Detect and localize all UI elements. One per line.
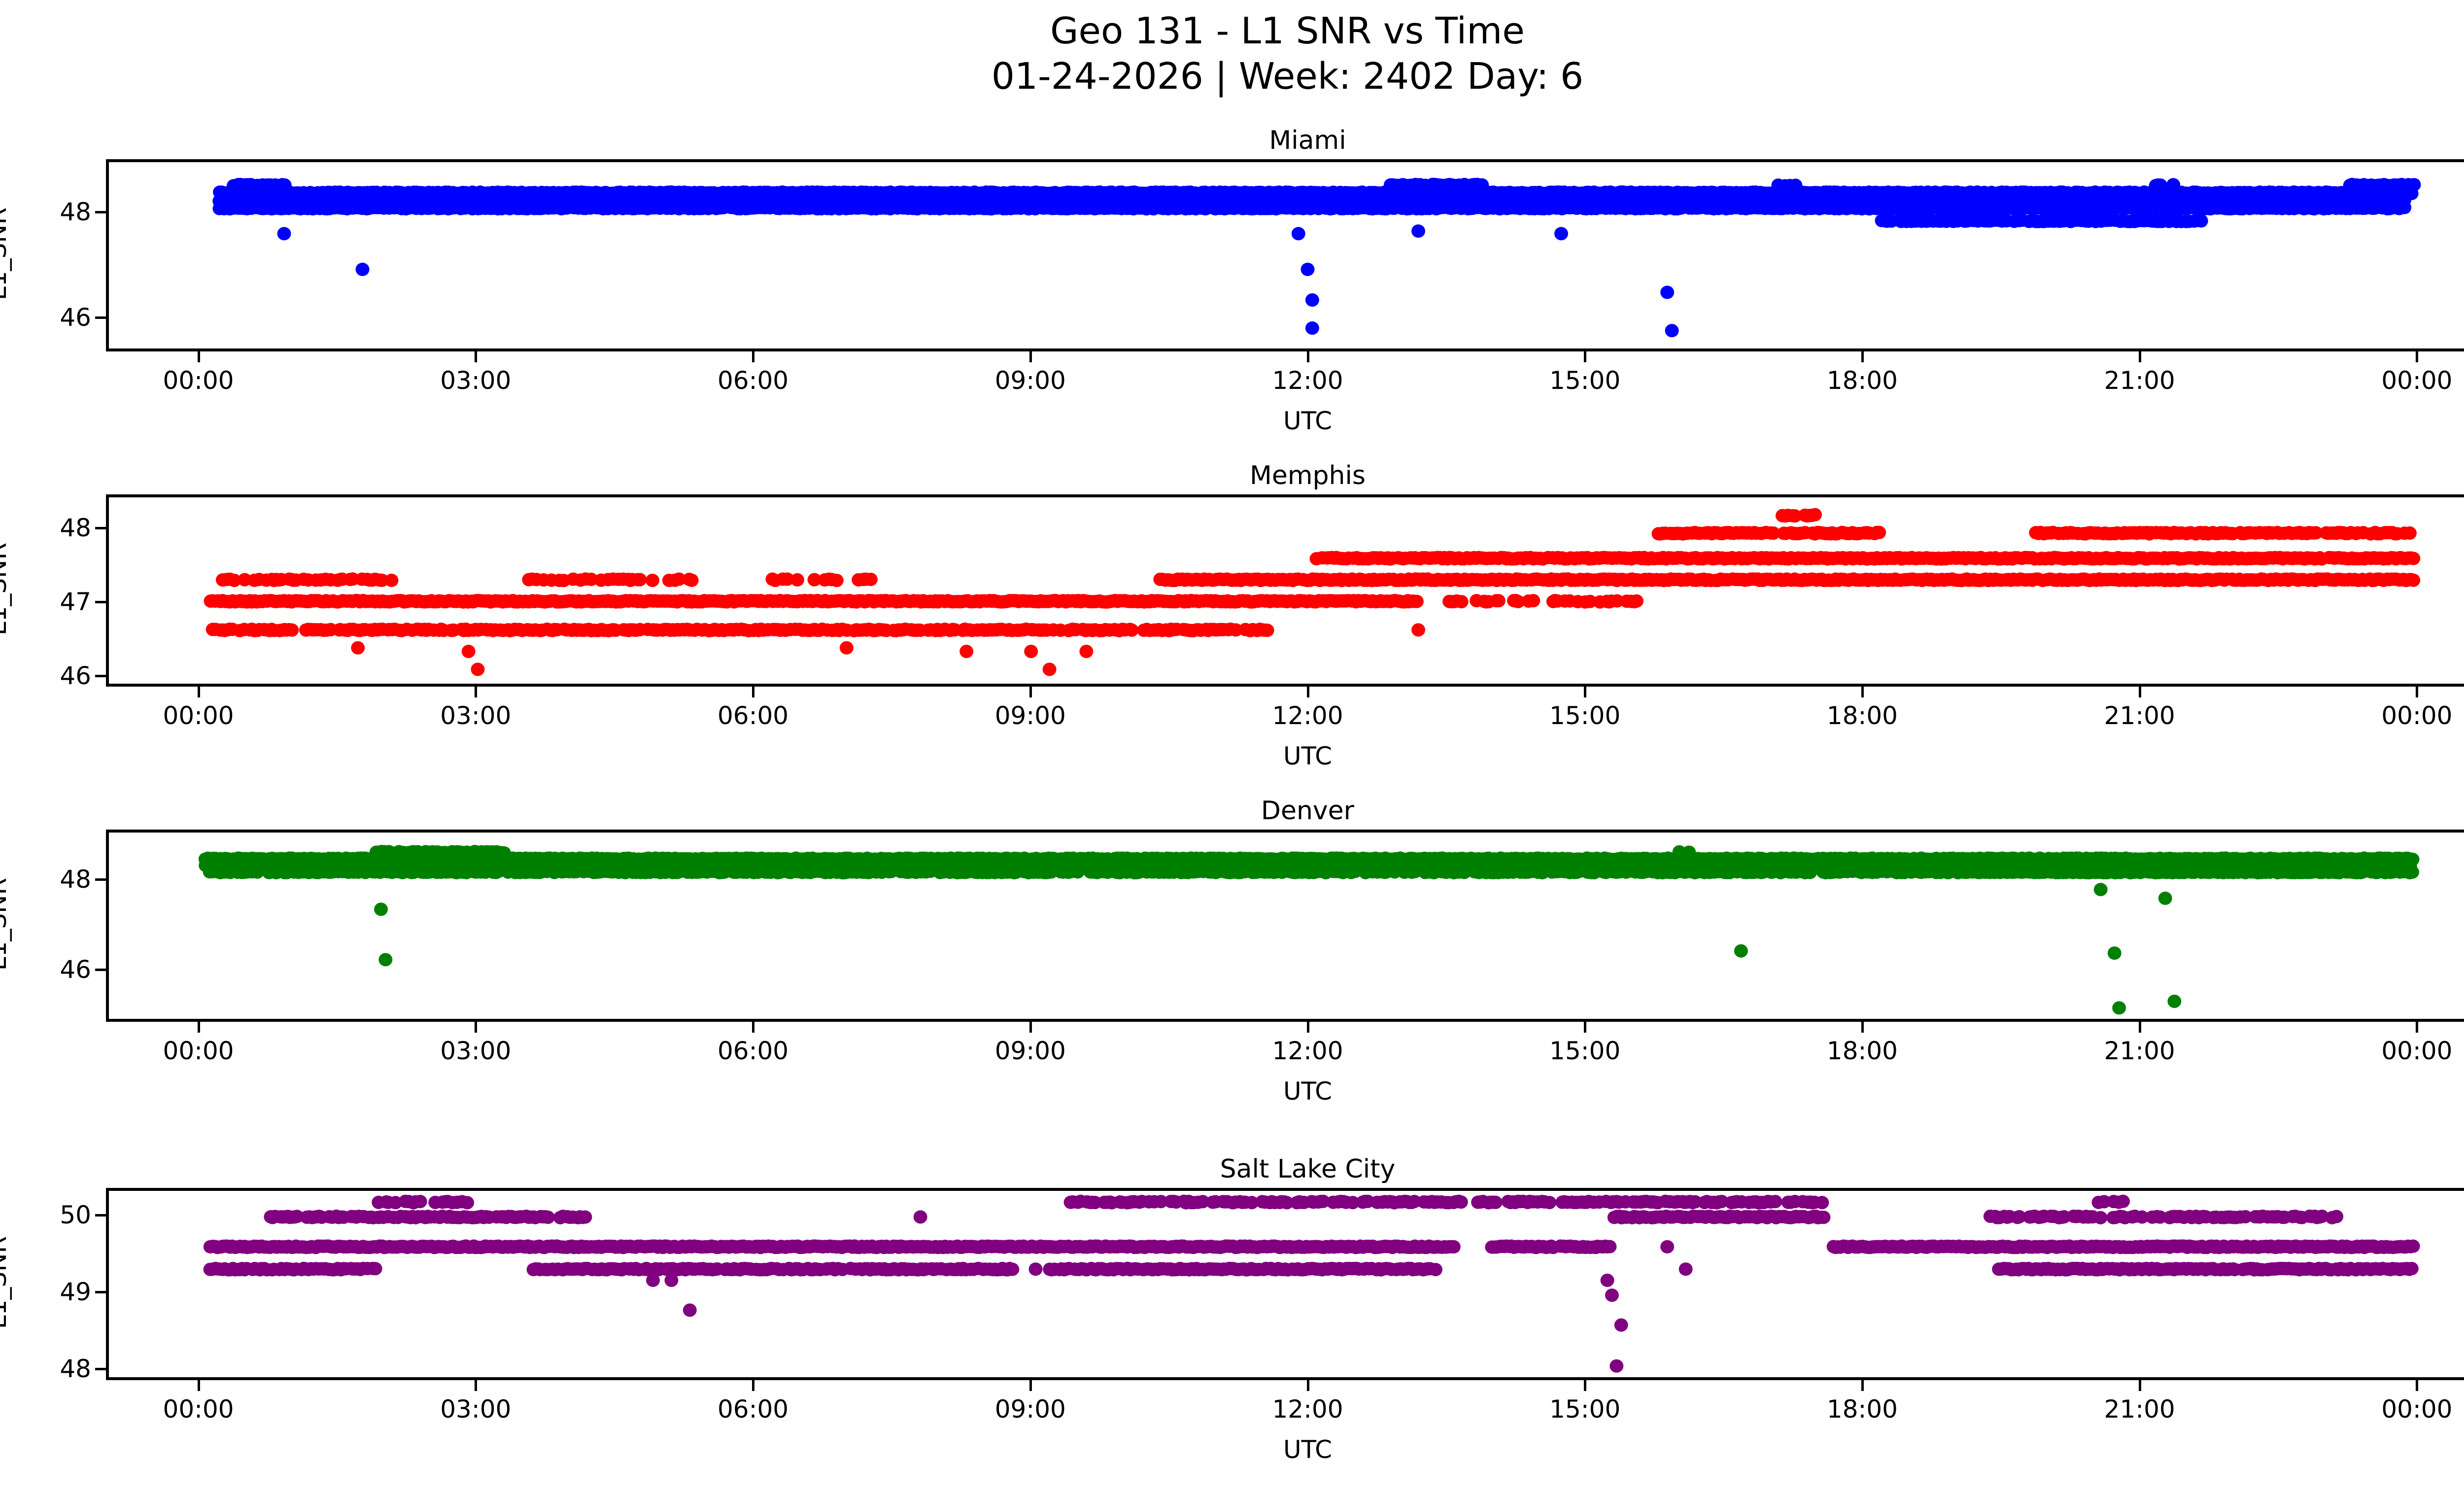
x-tick-label: 06:00	[718, 1395, 788, 1424]
x-tick-label: 00:00	[2381, 1395, 2452, 1424]
scatter-points-salt-lake-city	[109, 1191, 2464, 1377]
x-tick-label: 21:00	[2104, 1395, 2175, 1424]
x-tick-mark	[1861, 1380, 1864, 1391]
x-tick-mark	[1029, 1380, 1032, 1391]
x-tick-mark	[198, 1380, 200, 1391]
x-tick-label: 03:00	[440, 1395, 511, 1424]
x-tick-label: 00:00	[163, 1395, 234, 1424]
x-tick-label: 09:00	[995, 1395, 1066, 1424]
y-tick-label: 48	[27, 1355, 91, 1383]
y-tick-mark	[95, 1214, 106, 1217]
y-tick-label: 49	[27, 1278, 91, 1306]
x-tick-mark	[1307, 1380, 1309, 1391]
y-tick-mark	[95, 1291, 106, 1293]
x-axis-label-salt-lake-city: UTC	[1283, 1435, 1332, 1464]
x-tick-label: 18:00	[1827, 1395, 1898, 1424]
x-tick-mark	[1584, 1380, 1586, 1391]
subplot-title-salt-lake-city: Salt Lake City	[106, 1154, 2464, 1184]
x-tick-mark	[475, 1380, 477, 1391]
y-axis-label-salt-lake-city: L1_SNR	[0, 1147, 12, 1418]
x-tick-mark	[2139, 1380, 2141, 1391]
y-tick-label: 50	[27, 1201, 91, 1229]
x-tick-mark	[2416, 1380, 2418, 1391]
plot-axes-salt-lake-city	[106, 1188, 2464, 1380]
x-tick-label: 12:00	[1272, 1395, 1343, 1424]
x-tick-mark	[752, 1380, 754, 1391]
x-tick-label: 15:00	[1549, 1395, 1620, 1424]
y-tick-mark	[95, 1368, 106, 1370]
subplot-salt-lake-city: Salt Lake City L1_SNR UTC 48495000:0003:…	[0, 0, 2464, 1495]
figure-root: Geo 131 - L1 SNR vs Time 01-24-2026 | We…	[0, 0, 2464, 1495]
